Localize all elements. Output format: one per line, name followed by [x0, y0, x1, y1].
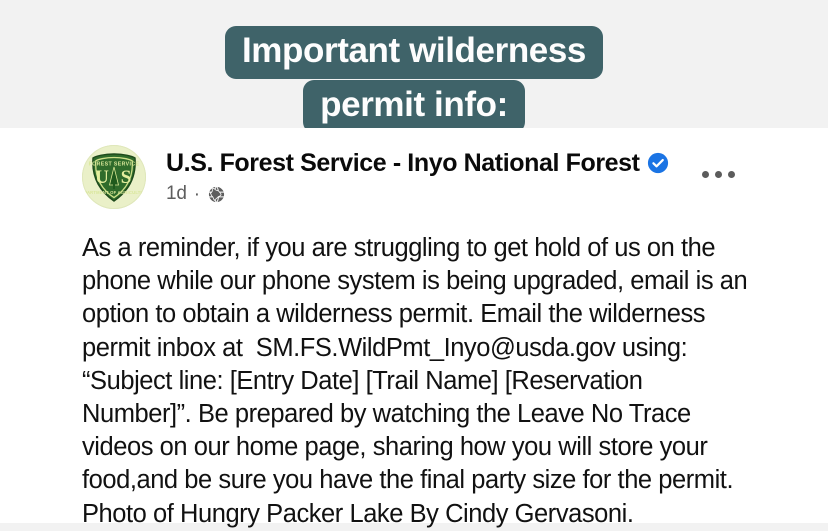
post-timestamp[interactable]: 1d [166, 183, 187, 205]
post-card: FOREST SERVICE U S DEPARTMENT OF AGRICUL… [0, 128, 828, 523]
verified-badge-icon [647, 152, 669, 174]
post-more-options-button[interactable] [696, 157, 740, 191]
post-header-text: U.S. Forest Service - Inyo National Fore… [166, 148, 669, 205]
meta-separator: · [194, 185, 200, 204]
svg-text:U: U [95, 167, 109, 188]
page-title-row: U.S. Forest Service - Inyo National Fore… [166, 148, 669, 178]
post-body-text: As a reminder, if you are struggling to … [82, 232, 754, 531]
story-banner: Important wilderness permit info: [0, 0, 828, 128]
story-banner-line-2: permit info: [303, 80, 525, 133]
ellipsis-dot [728, 171, 735, 178]
usfs-shield-logo-icon: FOREST SERVICE U S DEPARTMENT OF AGRICUL… [82, 145, 146, 209]
post-header: FOREST SERVICE U S DEPARTMENT OF AGRICUL… [82, 145, 804, 209]
globe-icon[interactable] [207, 185, 226, 204]
ellipsis-dot [715, 171, 722, 178]
svg-text:S: S [121, 167, 132, 188]
story-banner-line-1: Important wilderness [225, 26, 603, 79]
page-title[interactable]: U.S. Forest Service - Inyo National Fore… [166, 149, 640, 178]
story-banner-text: Important wilderness permit info: [0, 26, 828, 133]
post-meta: 1d · [166, 183, 669, 205]
avatar[interactable]: FOREST SERVICE U S DEPARTMENT OF AGRICUL… [82, 145, 146, 209]
svg-text:DEPARTMENT OF AGRICULTURE: DEPARTMENT OF AGRICULTURE [82, 190, 146, 195]
ellipsis-dot [702, 171, 709, 178]
